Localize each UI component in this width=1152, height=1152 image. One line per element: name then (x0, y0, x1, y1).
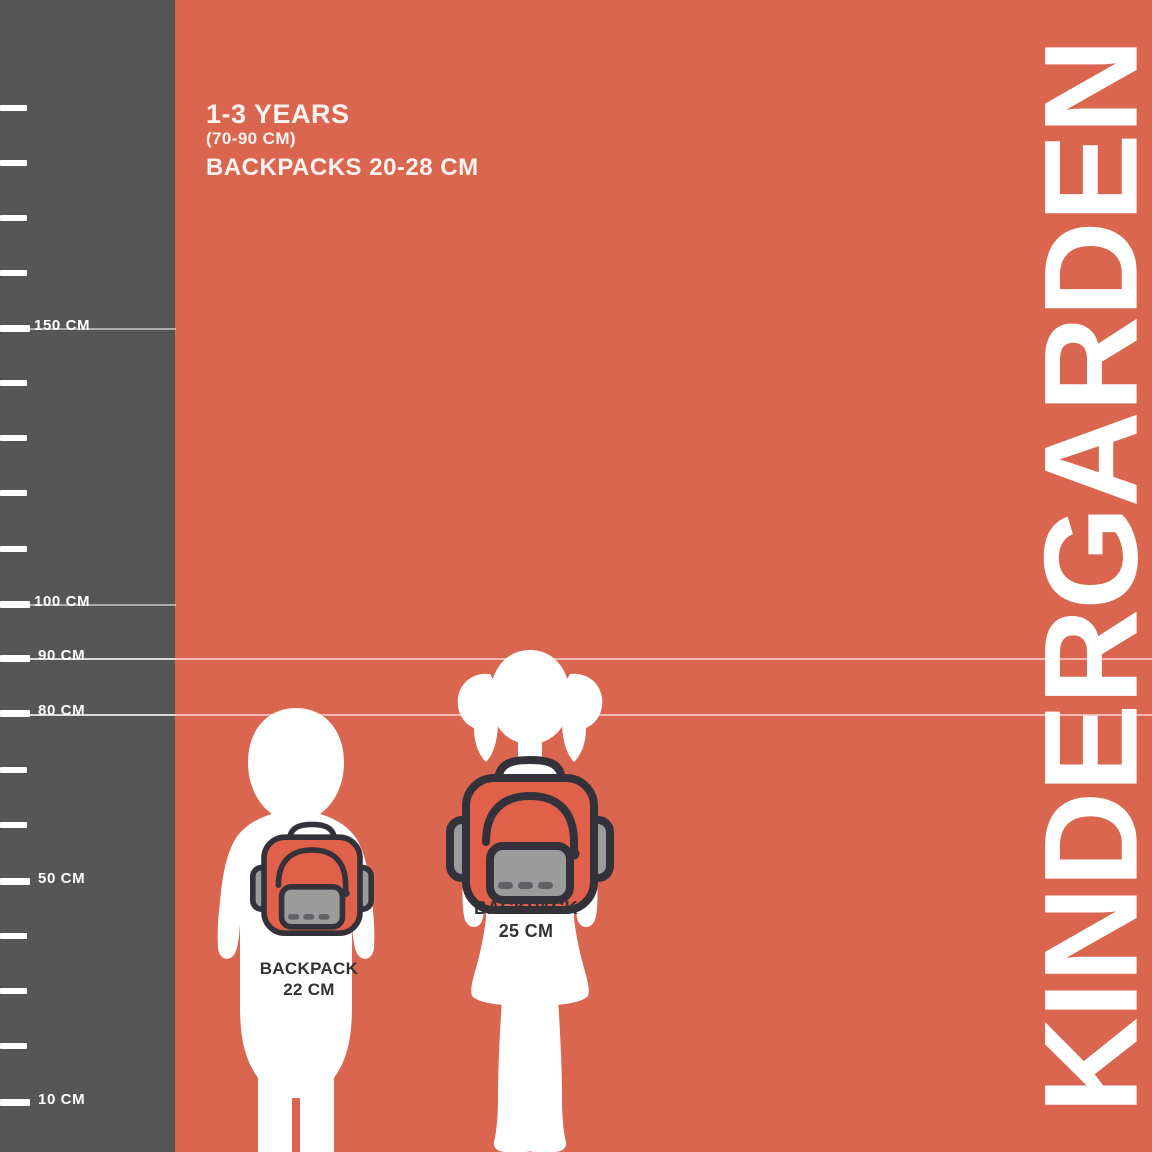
backpack-pocket-dash (518, 882, 533, 889)
guide-line-100cm (0, 604, 176, 606)
backpack-pocket-dash (288, 914, 299, 920)
ruler-tick (0, 215, 27, 221)
ruler-label-100cm: 100 CM (34, 593, 90, 610)
age-range-title: 1-3 YEARS (206, 100, 479, 128)
ruler-tick (0, 767, 27, 773)
ruler-tick (0, 1043, 27, 1049)
ruler-tick (0, 435, 27, 441)
backpack-front-pocket (282, 887, 343, 927)
ruler-tick (0, 160, 27, 166)
toddler-figure (196, 706, 396, 1152)
height-ruler-panel: 150 CM 100 CM 90 CM 80 CM 50 CM 10 CM (0, 0, 175, 1152)
girl-backpack-label-line2: 25 CM (466, 920, 586, 943)
backpack-pocket-dash (538, 882, 553, 889)
ruler-tick (0, 270, 27, 276)
kindergarden-wordmark: KINDERGARDEN (1026, 0, 1152, 1152)
backpack-range-title: BACKPACKS 20-28 CM (206, 153, 479, 183)
ruler-tick (0, 546, 27, 552)
heading-block: 1-3 YEARS (70-90 CM) BACKPACKS 20-28 CM (206, 100, 479, 183)
ruler-tick (0, 933, 27, 939)
ruler-label-50cm: 50 CM (38, 870, 85, 887)
girl-backpack-icon (450, 760, 610, 910)
height-range-subtitle: (70-90 CM) (206, 128, 479, 151)
toddler-backpack-label: BACKPACK 22 CM (249, 958, 369, 1001)
guide-line-150cm (0, 328, 176, 330)
toddler-backpack-label-line1: BACKPACK (249, 958, 369, 979)
ruler-tick (0, 490, 27, 496)
ruler-tick-10 (0, 1099, 30, 1106)
ruler-tick (0, 822, 27, 828)
ruler-label-80cm: 80 CM (38, 702, 85, 719)
girl-leg-right (526, 998, 566, 1152)
kindergarden-wordmark-text: KINDERGARDEN (1026, 39, 1152, 1113)
ruler-label-90cm: 90 CM (38, 647, 85, 664)
ruler-label-150cm: 150 CM (34, 317, 90, 334)
backpack-pocket-dash (318, 914, 329, 920)
backpack-front-pocket (490, 846, 570, 900)
backpack-pocket-dash (498, 882, 513, 889)
ruler-tick (0, 380, 27, 386)
girl-backpack-label: BACKPACK 25 CM (466, 897, 586, 942)
ruler-tick (0, 988, 27, 994)
ruler-label-10cm: 10 CM (38, 1091, 85, 1108)
ruler-tick (0, 105, 27, 111)
toddler-backpack-icon (253, 824, 371, 933)
backpack-pocket-dash (303, 914, 314, 920)
toddler-backpack-label-line2: 22 CM (249, 979, 369, 1000)
girl-backpack-label-line1: BACKPACK (466, 897, 586, 920)
girl-head (490, 650, 570, 744)
ruler-tick-50 (0, 878, 30, 885)
infographic-canvas: 150 CM 100 CM 90 CM 80 CM 50 CM 10 CM 1-… (0, 0, 1152, 1152)
